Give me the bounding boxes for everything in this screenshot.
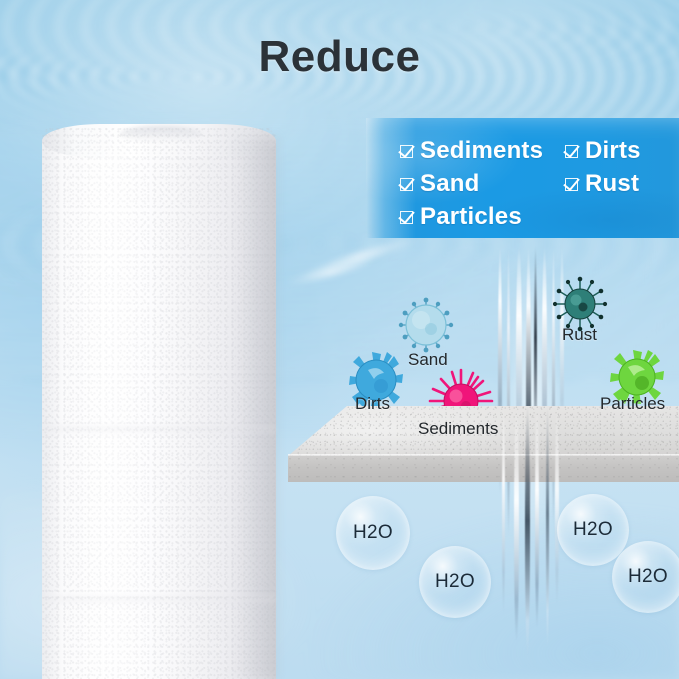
- contaminant-label-rust: Rust: [562, 325, 597, 345]
- contaminant-label-particles: Particles: [600, 394, 665, 414]
- bubble-label: H2O: [573, 519, 613, 541]
- contaminant-label-sand: Sand: [408, 350, 448, 370]
- cartridge-band: [42, 424, 276, 434]
- water-bubble: H2O: [419, 546, 491, 618]
- check-icon: [565, 178, 578, 191]
- slab-front-texture: [288, 456, 679, 482]
- banner-columns: Sediments Sand Particles Dirts: [366, 118, 679, 238]
- feature-item-rust: Rust: [565, 167, 641, 200]
- check-icon: [400, 178, 413, 191]
- check-icon: [400, 211, 413, 224]
- check-icon: [400, 145, 413, 158]
- cartridge-band: [42, 594, 276, 604]
- water-bubble: H2O: [336, 496, 410, 570]
- feature-item-particles: Particles: [400, 200, 543, 233]
- water-bubble: H2O: [612, 541, 679, 613]
- product-infographic: Reduce Sediments Sand Particles: [0, 0, 679, 679]
- feature-label: Rust: [585, 170, 639, 198]
- contaminant-label-sediments: Sediments: [418, 419, 498, 439]
- feature-item-dirts: Dirts: [565, 134, 641, 167]
- bubble-label: H2O: [353, 522, 393, 544]
- feature-item-sand: Sand: [400, 167, 543, 200]
- feature-item-sediments: Sediments: [400, 134, 543, 167]
- contaminant-label-dirts: Dirts: [355, 394, 390, 414]
- banner-column-right: Dirts Rust: [565, 134, 641, 200]
- germ-sand: [397, 296, 455, 354]
- feature-label: Sand: [420, 170, 479, 198]
- feature-label: Sediments: [420, 137, 543, 165]
- feature-label: Particles: [420, 203, 522, 231]
- features-banner: Sediments Sand Particles Dirts: [366, 118, 679, 238]
- bubble-label: H2O: [435, 571, 475, 593]
- page-title: Reduce: [0, 32, 679, 82]
- filter-surface-slab: [288, 406, 679, 482]
- check-icon: [565, 145, 578, 158]
- germ-rust: [552, 276, 608, 332]
- bubble-label: H2O: [628, 566, 668, 588]
- banner-column-left: Sediments Sand Particles: [400, 134, 543, 233]
- feature-label: Dirts: [585, 137, 641, 165]
- sediment-filter-cartridge: [42, 124, 276, 679]
